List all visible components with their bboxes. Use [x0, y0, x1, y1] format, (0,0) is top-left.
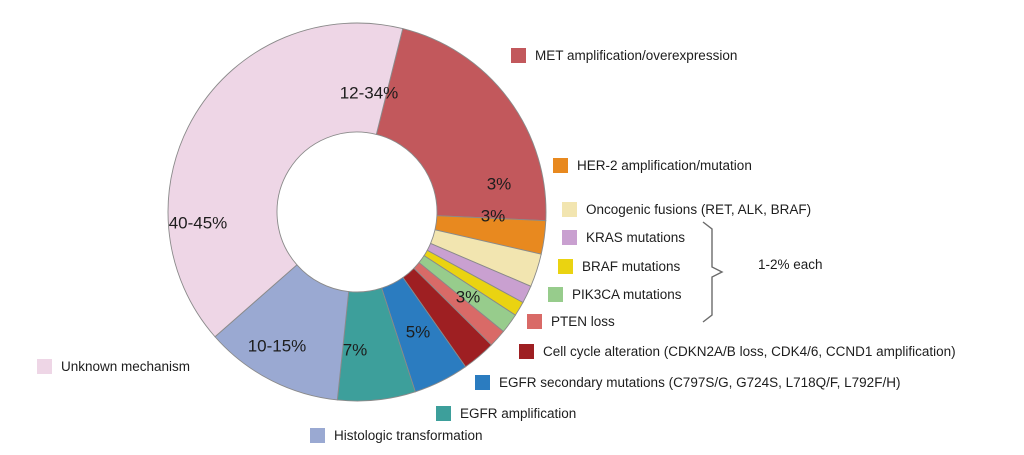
legend-item-her2-amplification[interactable]: HER-2 amplification/mutation [553, 158, 752, 173]
legend-label: EGFR amplification [460, 407, 576, 421]
legend-swatch-icon [310, 428, 325, 443]
slice-percentage-label: 12-34% [340, 83, 399, 102]
legend-swatch-icon [527, 314, 542, 329]
legend-item-unknown-mechanism[interactable]: Unknown mechanism [37, 359, 190, 374]
slice-percentage-label: 10-15% [248, 336, 307, 355]
legend-item-cell-cycle-alteration[interactable]: Cell cycle alteration (CDKN2A/B loss, CD… [519, 344, 956, 359]
legend-swatch-icon [548, 287, 563, 302]
slice-percentage-label: 3% [481, 206, 506, 225]
legend-item-braf-mutations[interactable]: BRAF mutations [558, 259, 680, 274]
grouping-brace [703, 222, 722, 322]
legend-swatch-icon [553, 158, 568, 173]
legend-label: Cell cycle alteration (CDKN2A/B loss, CD… [543, 345, 956, 359]
slice-percentage-label: 3% [487, 174, 512, 193]
legend-item-pik3ca-mutations[interactable]: PIK3CA mutations [548, 287, 682, 302]
legend-swatch-icon [562, 202, 577, 217]
legend-label: Oncogenic fusions (RET, ALK, BRAF) [586, 203, 811, 217]
legend-label: PTEN loss [551, 315, 615, 329]
legend-label: BRAF mutations [582, 260, 680, 274]
legend-item-met-amplification[interactable]: MET amplification/overexpression [511, 48, 737, 63]
legend-item-egfr-secondary-mutations[interactable]: EGFR secondary mutations (C797S/G, G724S… [475, 375, 900, 390]
legend-item-kras-mutations[interactable]: KRAS mutations [562, 230, 685, 245]
legend-label: MET amplification/overexpression [535, 49, 737, 63]
legend-label: EGFR secondary mutations (C797S/G, G724S… [499, 376, 900, 390]
legend-swatch-icon [558, 259, 573, 274]
brace-annotation-label: 1-2% each [758, 257, 823, 272]
slice-percentage-label: 5% [406, 322, 431, 341]
slice-percentage-label: 40-45% [169, 213, 228, 232]
legend-item-pten-loss[interactable]: PTEN loss [527, 314, 615, 329]
legend-item-egfr-amplification[interactable]: EGFR amplification [436, 406, 576, 421]
figure-container: 12-34%3%3%3%5%7%10-15%40-45% MET amplifi… [0, 0, 1024, 455]
legend-swatch-icon [436, 406, 451, 421]
legend-swatch-icon [475, 375, 490, 390]
legend-item-oncogenic-fusions[interactable]: Oncogenic fusions (RET, ALK, BRAF) [562, 202, 811, 217]
legend-label: KRAS mutations [586, 231, 685, 245]
legend-label: Unknown mechanism [61, 360, 190, 374]
legend-swatch-icon [511, 48, 526, 63]
slice-percentage-label: 3% [456, 287, 481, 306]
brace-path [703, 222, 722, 322]
legend-label: Histologic transformation [334, 429, 483, 443]
legend-swatch-icon [519, 344, 534, 359]
legend-item-histologic-transformation[interactable]: Histologic transformation [310, 428, 483, 443]
legend-label: HER-2 amplification/mutation [577, 159, 752, 173]
slice-percentage-label: 7% [343, 340, 368, 359]
legend-swatch-icon [562, 230, 577, 245]
legend-label: PIK3CA mutations [572, 288, 682, 302]
legend-swatch-icon [37, 359, 52, 374]
